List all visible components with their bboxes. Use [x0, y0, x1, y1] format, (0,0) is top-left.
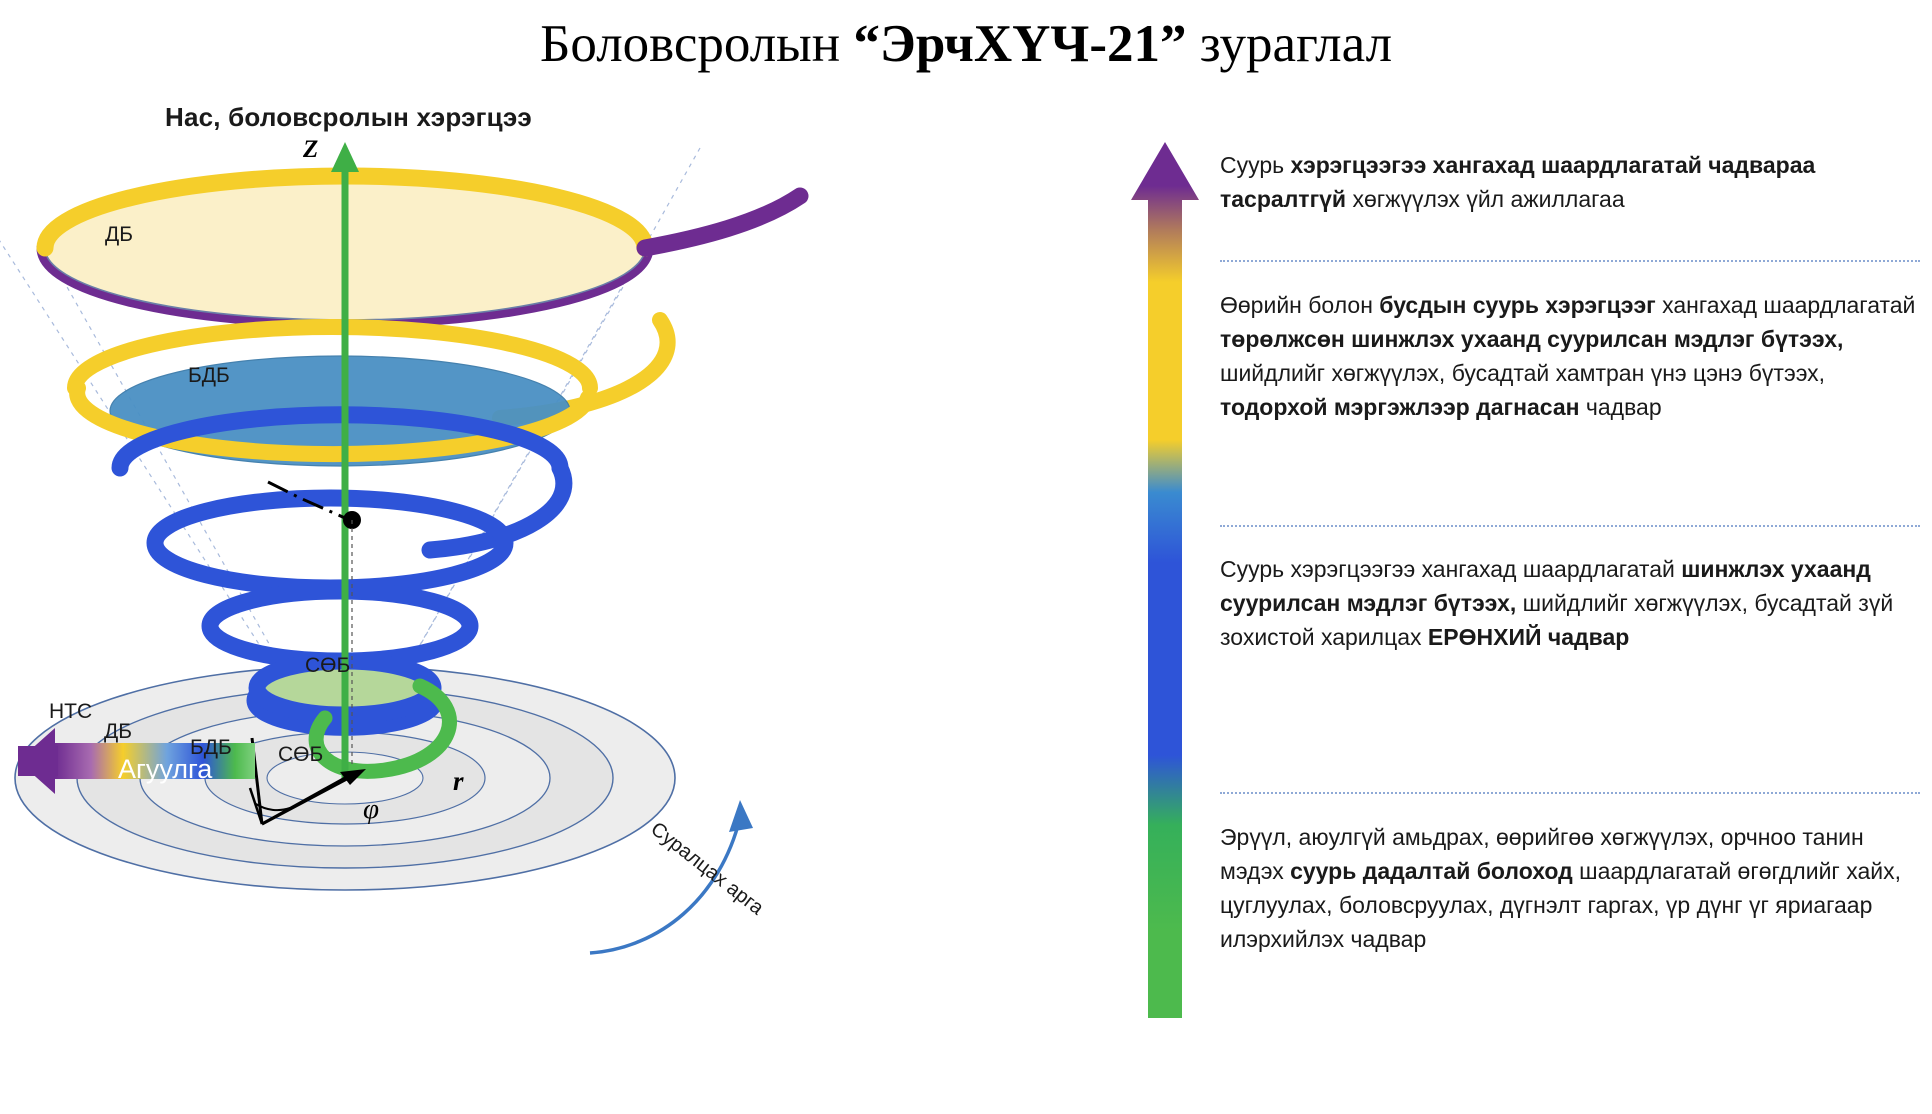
legend-text: Суурь хэрэгцээгээ хангахад шаардлагатай — [1220, 556, 1681, 582]
legend-paragraph: Эрүүл, аюулгүй амьдрах, өөрийгөө хөгжүүл… — [1220, 820, 1920, 956]
label-db-top: ДБ — [105, 223, 133, 247]
page-title: Боловсролын “ЭрчХҮЧ-21” зураглал — [0, 14, 1932, 75]
legend-block-1: Суурь хэрэгцээгээ хангахад шаардлагатай … — [1220, 148, 1920, 216]
label-base-nts: НТС — [49, 700, 92, 724]
diagram-heading: Нас, боловсролын хэрэгцээ — [165, 102, 532, 133]
legend-text: хангахад шаардлагатай — [1662, 292, 1915, 318]
label-angle-phi: φ — [363, 793, 379, 826]
label-content-bar: Агуулга — [118, 754, 212, 785]
legend-emphasis: төрөлжсөн шинжлэх ухаанд суурилсан мэдлэ… — [1220, 326, 1843, 352]
label-base-sob: СӨБ — [278, 743, 323, 767]
slide-canvas: Боловсролын “ЭрчХҮЧ-21” зураглал Нас, бо… — [0, 0, 1932, 1114]
cone-spiral-diagram: Нас, боловсролын хэрэгцээ — [0, 88, 960, 1108]
label-base-db: ДБ — [104, 720, 132, 744]
legend-emphasis: тодорхой мэргэжлээр дагнасан — [1220, 394, 1586, 420]
top-disc-db — [45, 176, 800, 320]
legend-block-2: Өөрийн болон бусдын суурь хэрэгцээг ханг… — [1220, 288, 1920, 424]
label-axis-z: Z — [303, 136, 318, 164]
legend-block-3: Суурь хэрэгцээгээ хангахад шаардлагатай … — [1220, 552, 1920, 654]
vertical-gradient-arrow — [1130, 140, 1200, 1020]
legend-divider-1 — [1220, 260, 1920, 262]
legend-emphasis: ЕРӨНХИЙ чадвар — [1428, 624, 1629, 650]
legend-text: шийдлийг хөгжүүлэх, бусадтай хамтран үнэ… — [1220, 360, 1825, 386]
title-part-post: зураглал — [1186, 15, 1392, 73]
diagram-svg — [0, 88, 960, 1108]
label-bdb-middle: БДБ — [188, 364, 230, 388]
legend-divider-3 — [1220, 792, 1920, 794]
legend-text: чадвар — [1586, 394, 1662, 420]
legend-paragraph: Суурь хэрэгцээгээ хангахад шаардлагатай … — [1220, 148, 1920, 216]
legend-text: Өөрийн болон — [1220, 292, 1379, 318]
legend-panel: Суурь хэрэгцээгээ хангахад шаардлагатай … — [1130, 140, 1920, 1040]
legend-emphasis: бусдын суурь хэрэгцээг — [1379, 292, 1662, 318]
legend-paragraph: Өөрийн болон бусдын суурь хэрэгцээг ханг… — [1220, 288, 1920, 424]
label-sob-middle: СӨБ — [305, 654, 350, 678]
legend-text: Суурь — [1220, 152, 1291, 178]
title-part-pre: Боловсролын — [540, 15, 853, 73]
title-part-bold: “ЭрчХҮЧ-21” — [853, 15, 1186, 73]
legend-divider-2 — [1220, 525, 1920, 527]
legend-paragraph: Суурь хэрэгцээгээ хангахад шаардлагатай … — [1220, 552, 1920, 654]
legend-text: хөгжүүлэх үйл ажиллагаа — [1352, 186, 1624, 212]
label-axis-r: r — [453, 766, 464, 797]
legend-emphasis: суурь дадалтай болоход — [1290, 858, 1579, 884]
legend-block-4: Эрүүл, аюулгүй амьдрах, өөрийгөө хөгжүүл… — [1220, 820, 1920, 956]
